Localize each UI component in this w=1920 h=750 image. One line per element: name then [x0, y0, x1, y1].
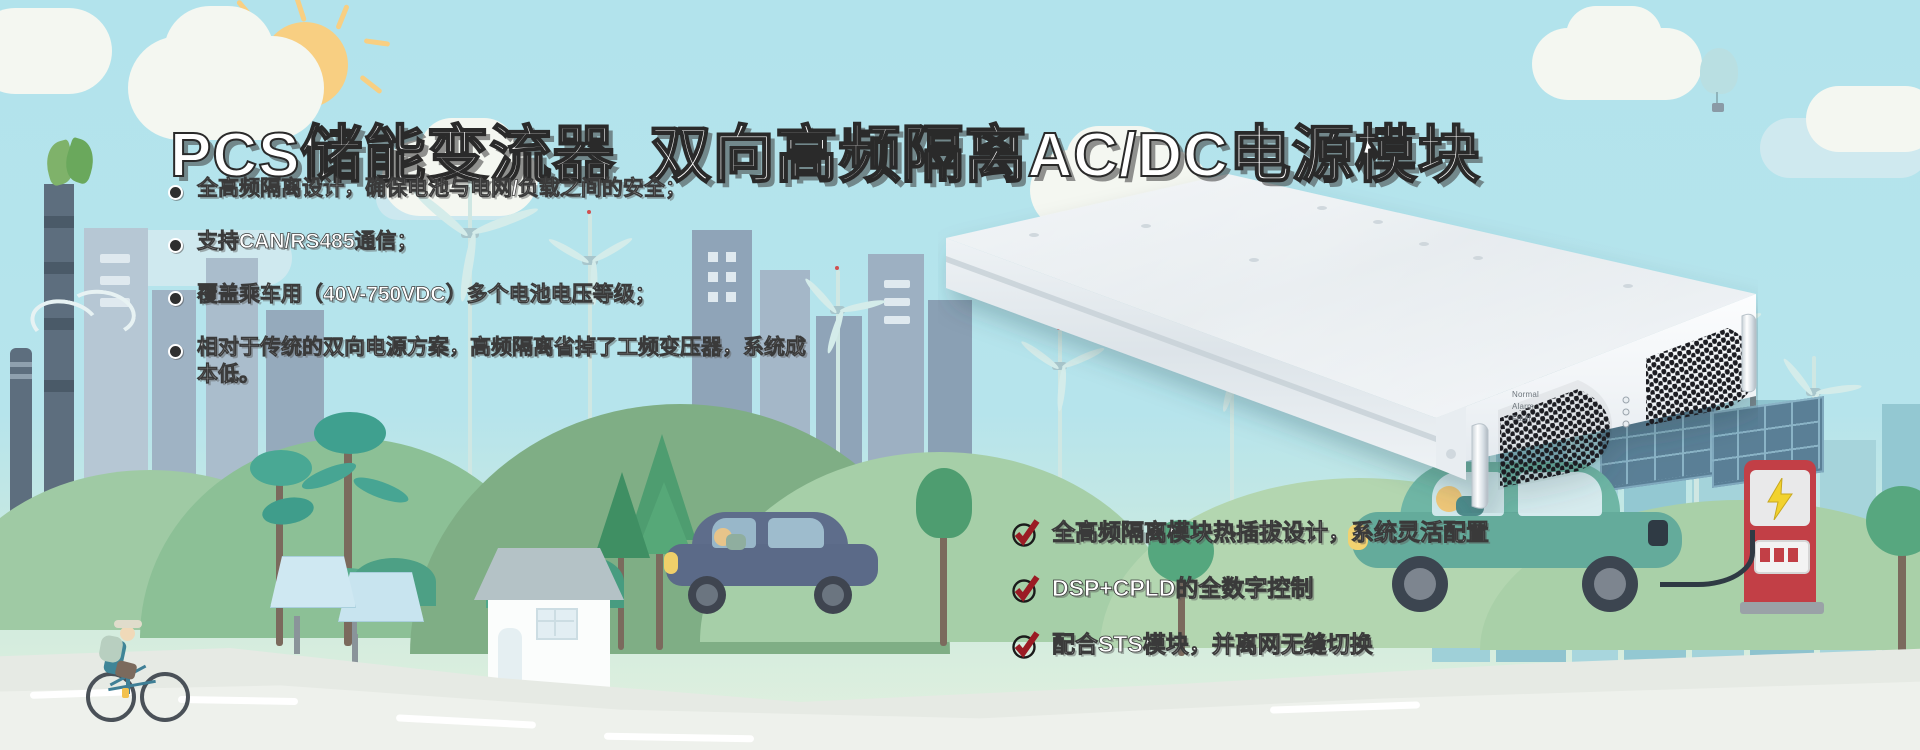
- bullet-dot-icon: [168, 238, 183, 253]
- led-indicator-fault: Fault: [1512, 414, 1531, 423]
- bullet-dot-icon: [168, 291, 183, 306]
- right-feature-list: 全高频隔离模块热插拔设计，系统灵活配置 DSP+CPLD的全数字控制 配合STS…: [1010, 518, 1530, 686]
- led-label-fault: Fault: [1512, 414, 1531, 423]
- check-feature-text: 配合STS模块，并离网无缝切换: [1052, 631, 1373, 659]
- feature-text: 全高频隔离设计，确保电池与电网/负载之间的安全；: [197, 176, 686, 203]
- feature-text: 相对于传统的双向电源方案，高频隔离省掉了工频变压器，系统成本低。: [197, 335, 808, 389]
- led-indicator-normal: Normal: [1512, 390, 1539, 399]
- feature-text: 覆盖乘车用（40V-750VDC）多个电池电压等级；: [197, 282, 656, 309]
- feature-item: 覆盖乘车用（40V-750VDC）多个电池电压等级；: [168, 282, 868, 309]
- check-feature-item: 配合STS模块，并离网无缝切换: [1010, 630, 1530, 660]
- bullet-dot-icon: [168, 344, 183, 359]
- check-feature-item: 全高频隔离模块热插拔设计，系统灵活配置: [1010, 518, 1530, 548]
- led-label-normal: Normal: [1512, 390, 1539, 399]
- product-banner: Normal Alarm Fault PCS储能变流器双向高频隔离AC/DC电源…: [0, 0, 1920, 750]
- rack-mount-pcs-module: Normal Alarm Fault: [938, 168, 1758, 513]
- left-feature-list: 全高频隔离设计，确保电池与电网/负载之间的安全； 支持CAN/RS485通信； …: [168, 176, 868, 414]
- led-indicator-alarm: Alarm: [1512, 402, 1534, 411]
- check-circle-icon: [1010, 574, 1040, 604]
- feature-item: 支持CAN/RS485通信；: [168, 229, 868, 256]
- check-feature-text: 全高频隔离模块热插拔设计，系统灵活配置: [1052, 519, 1489, 547]
- feature-item: 相对于传统的双向电源方案，高频隔离省掉了工频变压器，系统成本低。: [168, 335, 808, 389]
- check-circle-icon: [1010, 518, 1040, 548]
- check-feature-item: DSP+CPLD的全数字控制: [1010, 574, 1530, 604]
- check-circle-icon: [1010, 630, 1040, 660]
- check-feature-text: DSP+CPLD的全数字控制: [1052, 575, 1313, 603]
- feature-text: 支持CAN/RS485通信；: [197, 229, 418, 256]
- feature-item: 全高频隔离设计，确保电池与电网/负载之间的安全；: [168, 176, 868, 203]
- led-label-alarm: Alarm: [1512, 402, 1534, 411]
- bullet-dot-icon: [168, 185, 183, 200]
